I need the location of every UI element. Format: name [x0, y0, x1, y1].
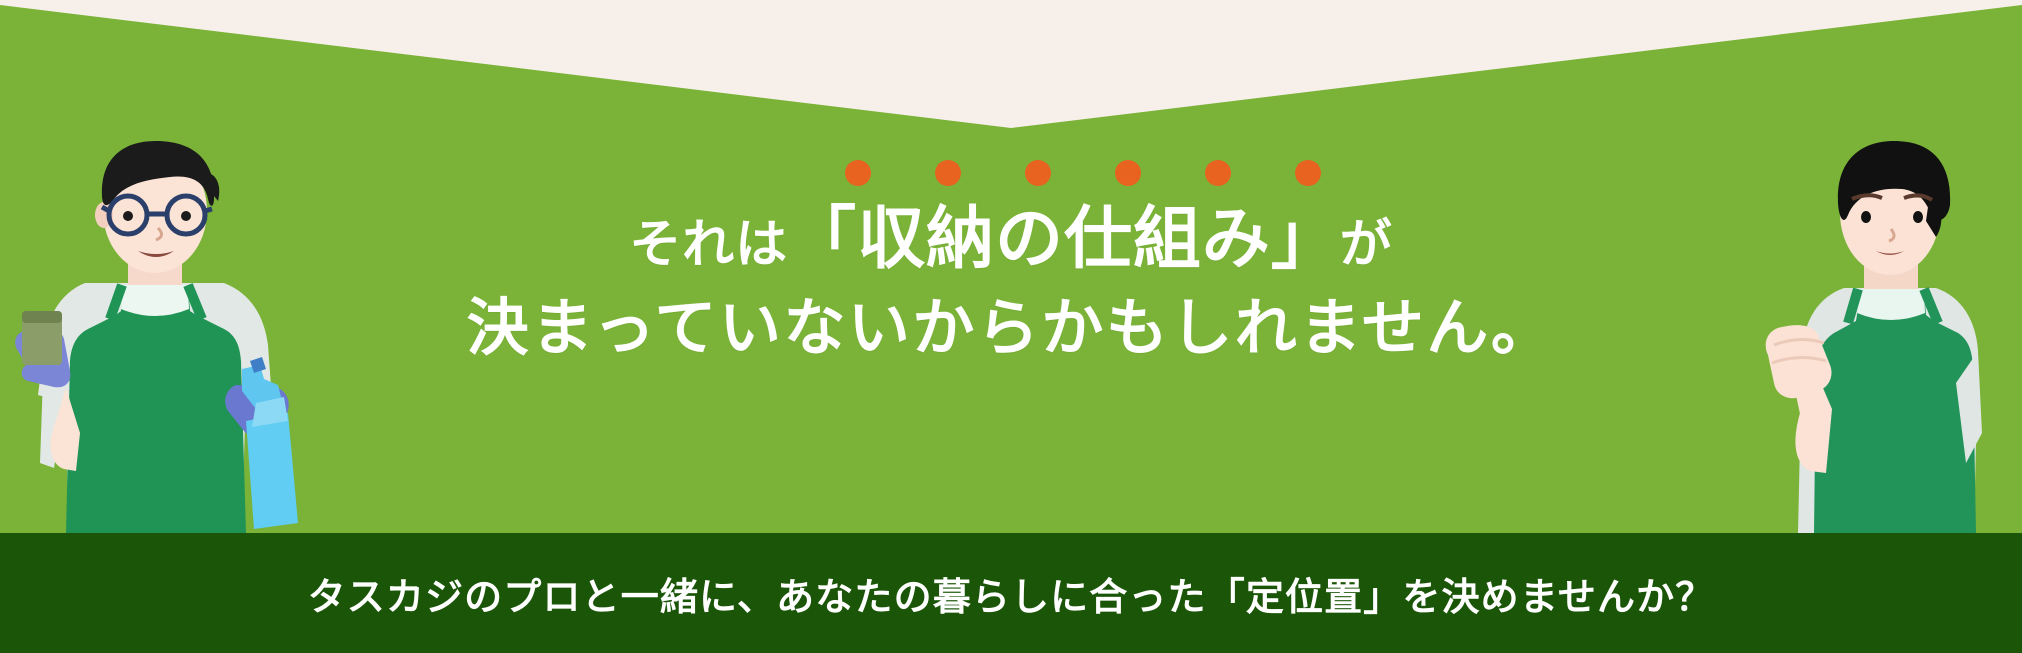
accent-dot — [1025, 160, 1051, 186]
accent-dot — [1115, 160, 1141, 186]
cta-bar: タスカジのプロと一緒に、あなたの暮らしに合った「定位置」を決めませんか？ — [0, 533, 2022, 653]
headline: それは「収納の仕組み」が 決まっていないからかもしれません。 — [0, 196, 2022, 368]
accent-dot — [845, 160, 871, 186]
accent-dot — [935, 160, 961, 186]
cta-text: タスカジのプロと一緒に、あなたの暮らしに合った「定位置」を決めませんか？ — [308, 566, 1715, 621]
accent-dot — [1295, 160, 1321, 186]
headline-emphasis: 「収納の仕組み」 — [788, 201, 1340, 277]
headline-line-2: 決まっていないからかもしれません。 — [0, 289, 2022, 368]
top-notch-decoration — [0, 0, 2022, 130]
headline-line-1: それは「収納の仕組み」が — [0, 196, 2022, 283]
headline-suffix: が — [1340, 216, 1393, 274]
accent-dot — [1205, 160, 1231, 186]
promo-banner: それは「収納の仕組み」が 決まっていないからかもしれません。 タスカジのプロと一… — [0, 0, 2022, 653]
headline-prefix: それは — [629, 216, 788, 274]
accent-dot-row — [845, 160, 1321, 186]
